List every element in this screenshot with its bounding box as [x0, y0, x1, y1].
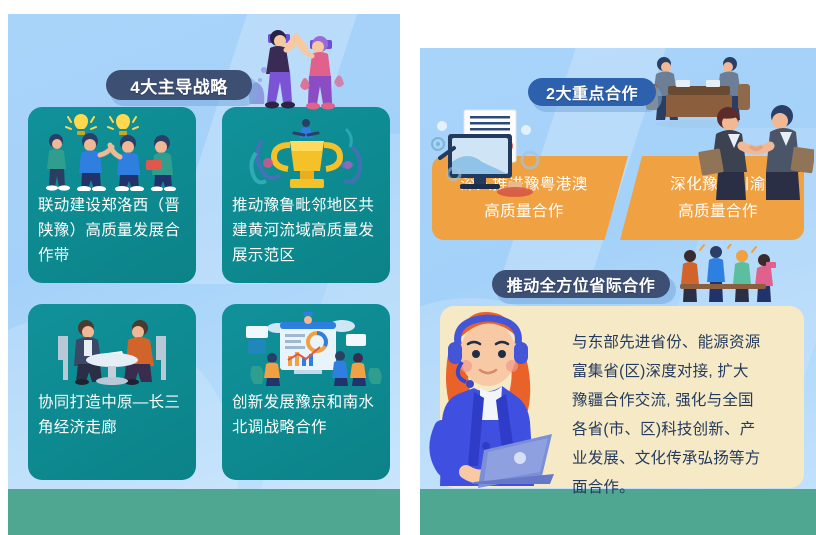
left-heading-badge: 4大主导战略 — [106, 70, 252, 100]
focus-card-2-line2: 高质量合作 — [678, 198, 758, 225]
interprovincial-cooperation-text: 与东部先进省份、能源资源 富集省(区)深度对接, 扩大 豫疆合作交流, 强化与全… — [572, 328, 792, 502]
body-line: 各省(市、区)科技创新、产 — [572, 415, 792, 444]
interprovincial-cooperation-box[interactable]: 与东部先进省份、能源资源 富集省(区)深度对接, 扩大 豫疆合作交流, 强化与全… — [440, 306, 804, 488]
focus-card-2-line1: 深化豫鄂川渝 — [670, 171, 765, 198]
right-bottom-heading-badge: 推动全方位省际合作 — [492, 270, 670, 298]
right-top-heading-badge: 2大重点合作 — [528, 78, 656, 106]
negotiation-table-icon — [28, 310, 196, 388]
strategy-card-1-label: 联动建设郑洛西（晋陕豫）高质量发展合作带 — [38, 193, 188, 268]
left-footer-bar — [8, 489, 400, 535]
body-line: 与东部先进省份、能源资源 — [572, 328, 792, 357]
teamwork-ideas-icon — [28, 113, 196, 191]
strategy-card-1[interactable]: 联动建设郑洛西（晋陕豫）高质量发展合作带 — [28, 107, 196, 283]
left-panel: 4大主导战略 — [8, 14, 400, 535]
body-line: 富集省(区)深度对接, 扩大 — [572, 357, 792, 386]
right-panel: 2大重点合作 — [420, 48, 816, 535]
infographic-root: 4大主导战略 — [0, 0, 816, 535]
strategy-card-3-label: 协同打造中原—长三角经济走廊 — [38, 390, 188, 440]
strategy-card-2[interactable]: 推动豫鲁毗邻地区共建黄河流域高质量发展示范区 — [222, 107, 390, 283]
focus-card-1-line1: 深入推进豫粤港澳 — [460, 171, 587, 198]
body-line: 豫疆合作交流, 强化与全国 — [572, 386, 792, 415]
focus-card-1[interactable]: 深入推进豫粤港澳 高质量合作 — [432, 156, 628, 240]
trophy-icon — [222, 113, 390, 191]
strategy-card-2-label: 推动豫鲁毗邻地区共建黄河流域高质量发展示范区 — [232, 193, 382, 268]
focus-card-2[interactable]: 深化豫鄂川渝 高质量合作 — [620, 156, 804, 240]
body-line: 业发展、文化传承弘扬等方 — [572, 444, 792, 473]
strategy-card-4[interactable]: 创新发展豫京和南水北调战略合作 — [222, 304, 390, 480]
strategy-card-3[interactable]: 协同打造中原—长三角经济走廊 — [28, 304, 196, 480]
dashboard-analytics-icon — [222, 310, 390, 388]
strategy-card-4-label: 创新发展豫京和南水北调战略合作 — [232, 390, 382, 440]
focus-card-1-line2: 高质量合作 — [484, 198, 564, 225]
body-line: 面合作。 — [572, 473, 792, 502]
